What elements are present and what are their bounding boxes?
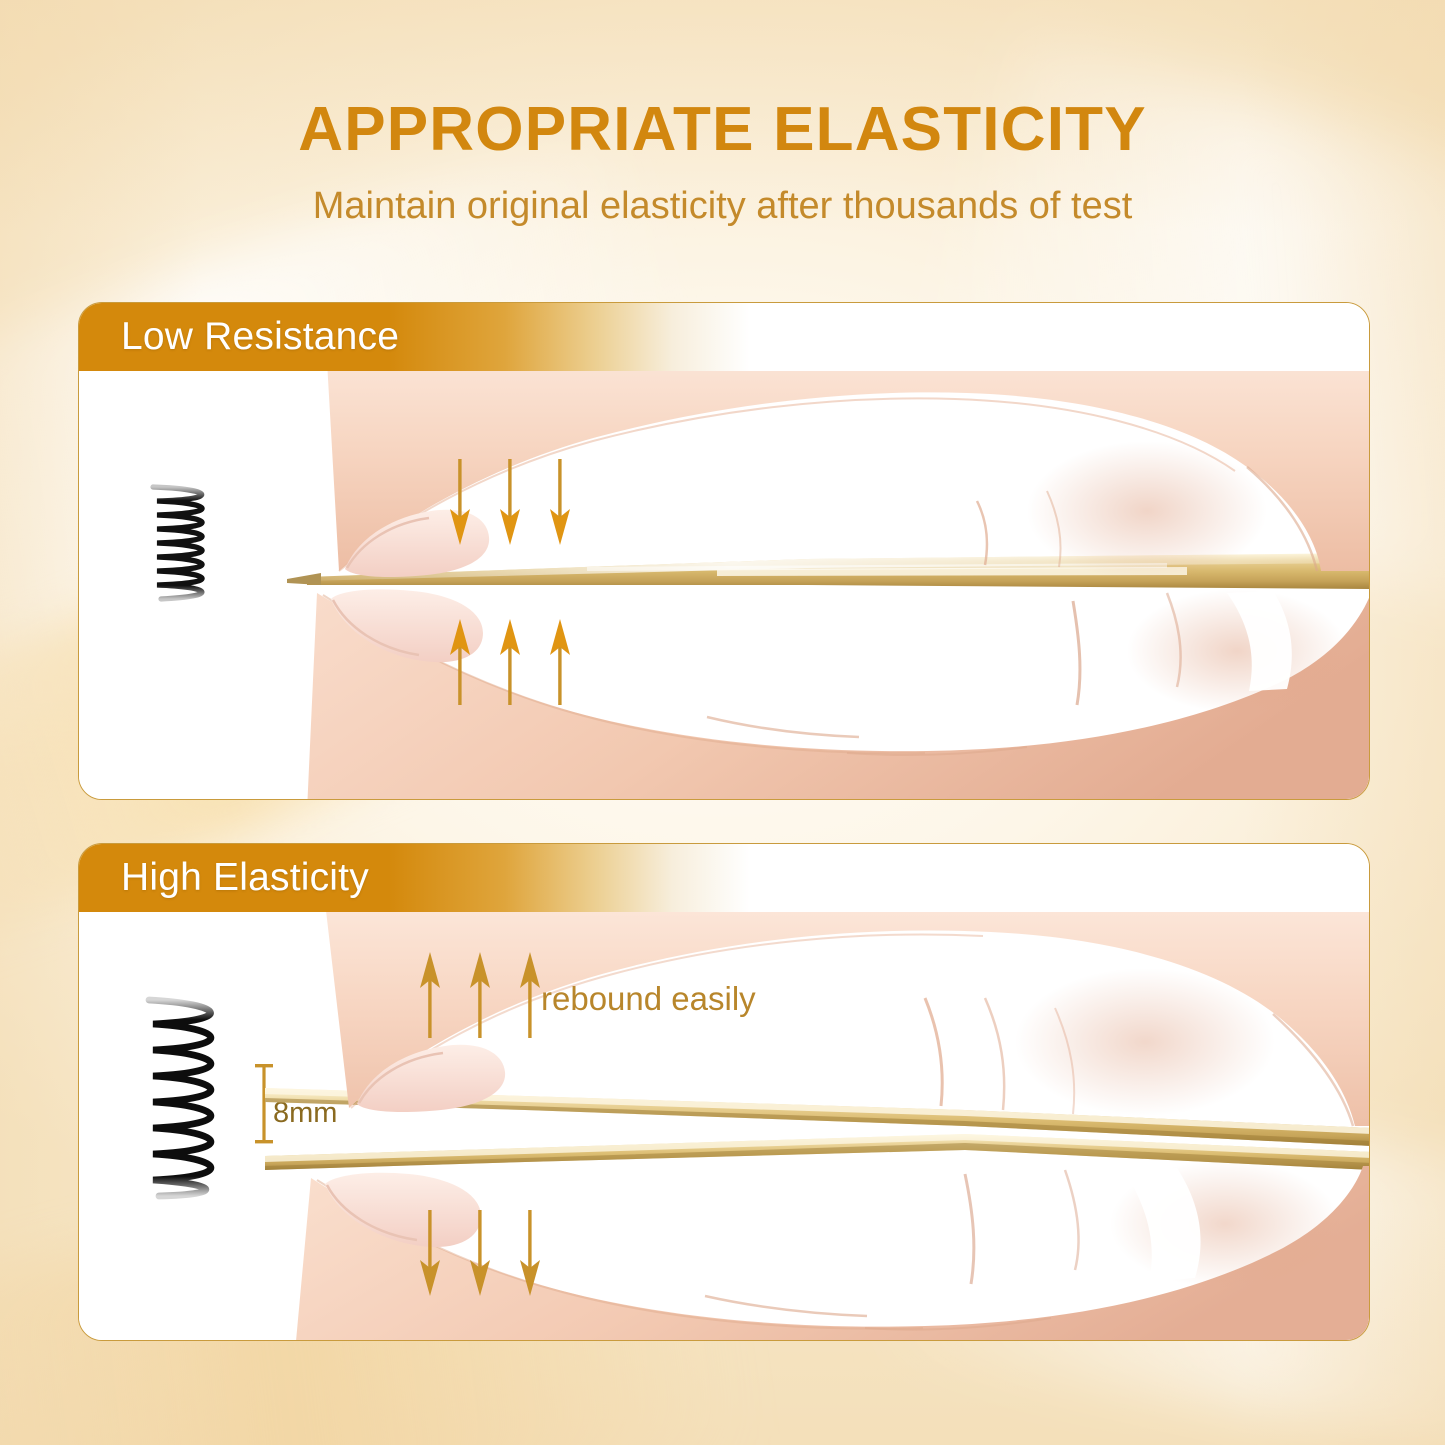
arrow-down-icon	[419, 1210, 441, 1296]
header-block: APPROPRIATE ELASTICITY Maintain original…	[0, 0, 1445, 225]
arrows-down-group	[419, 1210, 541, 1296]
panel-header-label: High Elasticity	[121, 856, 369, 900]
arrow-up-icon	[449, 619, 471, 705]
panel-body-low-resistance	[79, 371, 1369, 799]
panel-header-high-elasticity: High Elasticity	[79, 844, 1369, 912]
panel-header-low-resistance: Low Resistance	[79, 303, 1369, 371]
page-title: APPROPRIATE ELASTICITY	[0, 99, 1445, 161]
arrows-up-group	[449, 619, 571, 705]
panel-low-resistance: Low Resistance	[78, 302, 1370, 800]
panel-body-high-elasticity: 8mm	[79, 912, 1369, 1340]
arrow-down-icon	[549, 459, 571, 545]
arrow-up-icon	[519, 952, 541, 1038]
arrow-up-icon	[549, 619, 571, 705]
arrow-down-icon	[499, 459, 521, 545]
arrow-down-icon	[519, 1210, 541, 1296]
arrow-down-icon	[469, 1210, 491, 1296]
extended-spring-icon	[119, 990, 269, 1209]
arrows-down-group	[449, 459, 571, 545]
arrows-up-group	[419, 952, 541, 1038]
arrow-up-icon	[499, 619, 521, 705]
arrow-up-icon	[469, 952, 491, 1038]
arrow-down-icon	[449, 459, 471, 545]
arrow-up-icon	[419, 952, 441, 1038]
page-subtitle: Maintain original elasticity after thous…	[0, 187, 1445, 225]
panel-high-elasticity: High Elasticity 8mm	[78, 843, 1370, 1341]
photo-hand-squeezing-tweezers	[287, 371, 1369, 799]
rebound-label: rebound easily	[541, 980, 756, 1018]
panel-header-label: Low Resistance	[121, 315, 399, 359]
compressed-spring-icon	[127, 479, 247, 612]
